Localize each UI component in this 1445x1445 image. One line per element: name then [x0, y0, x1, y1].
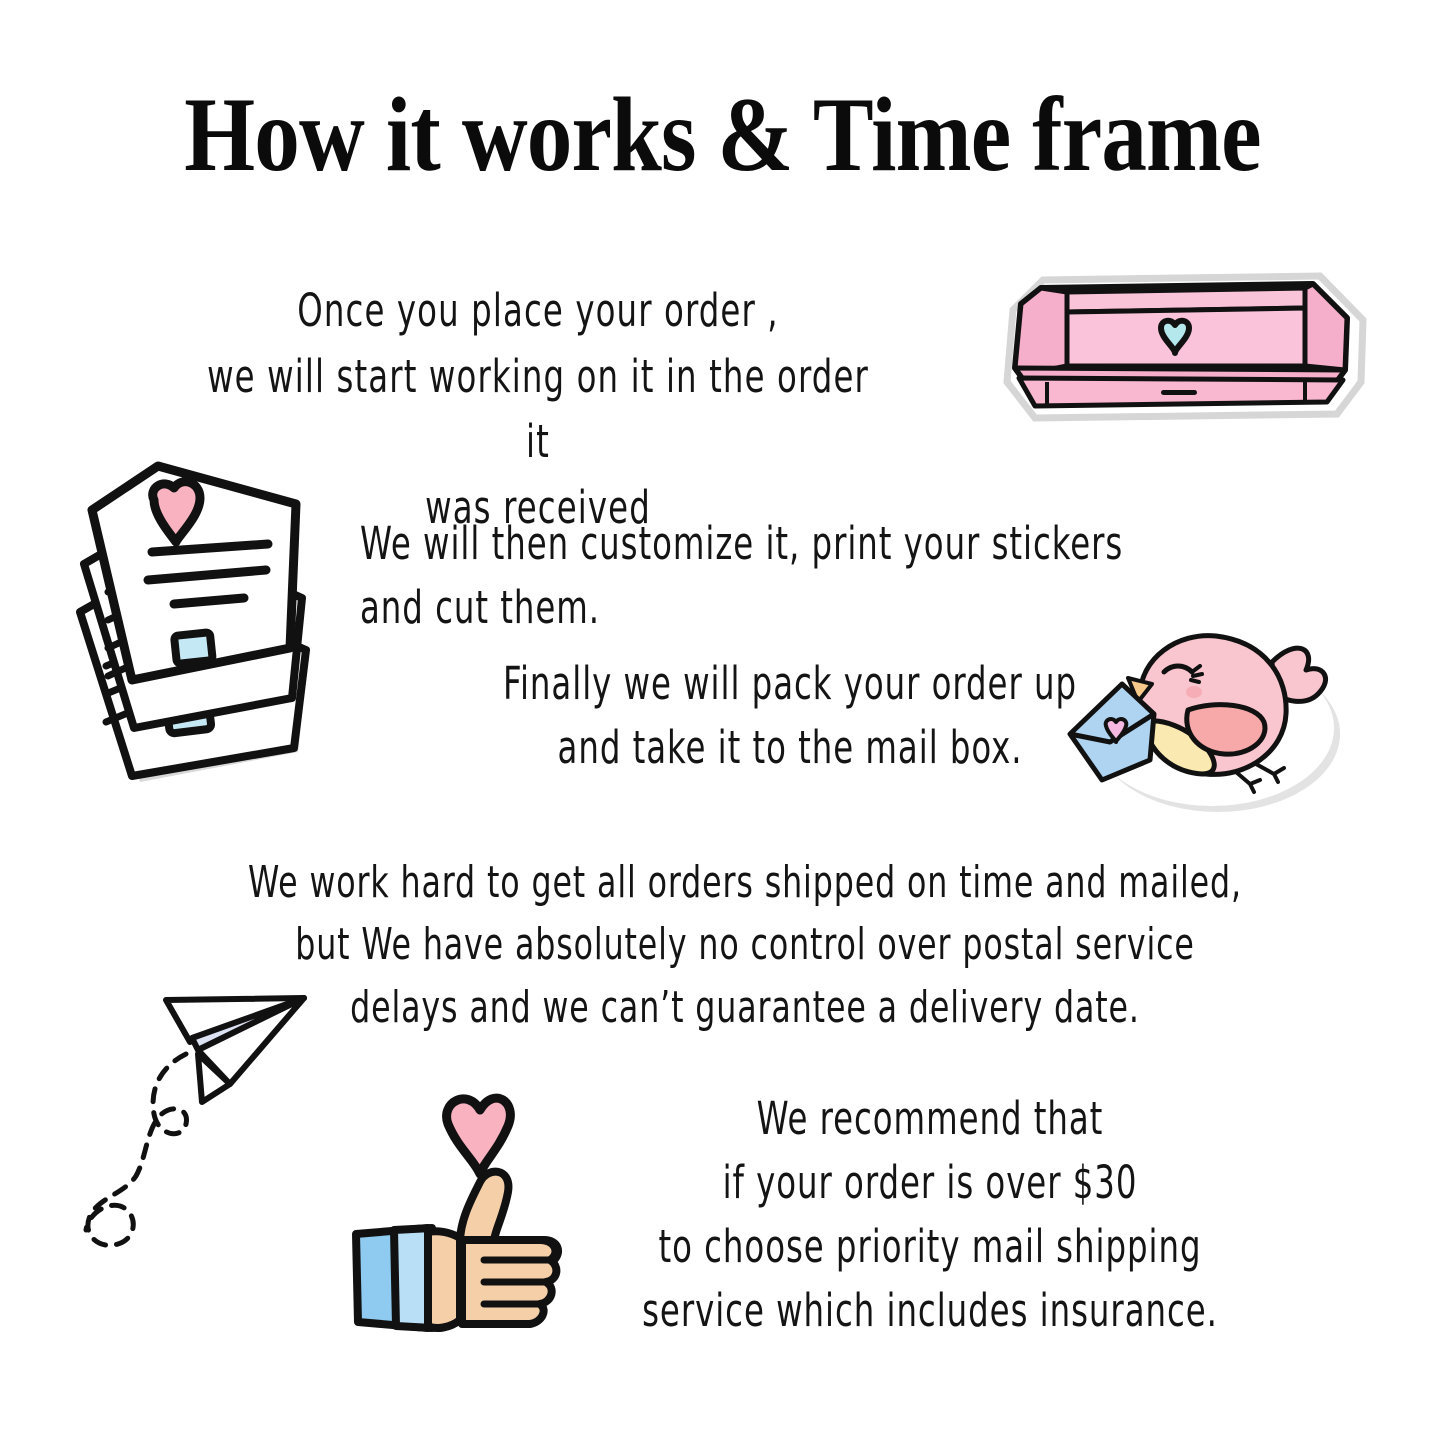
thumbs-up-icon	[332, 1082, 592, 1347]
letters-stack-icon	[62, 452, 352, 792]
cutting-machine-icon	[975, 262, 1375, 447]
shipping-disclaimer-text: We work hard to get all orders shipped o…	[245, 852, 1245, 1039]
step-2-text: We will then customize it, print your st…	[360, 512, 1144, 640]
insurance-recommendation-text: We recommend that if your order is over …	[642, 1087, 1218, 1343]
paper-airplane-icon	[62, 972, 352, 1262]
step-3-text: Finally we will pack your order up and t…	[430, 652, 1150, 780]
page-title: How it works & Time frame	[101, 82, 1344, 188]
bird-with-envelope-icon	[1060, 622, 1360, 827]
poster-canvas: How it works & Time frame Once you place…	[0, 0, 1445, 1445]
